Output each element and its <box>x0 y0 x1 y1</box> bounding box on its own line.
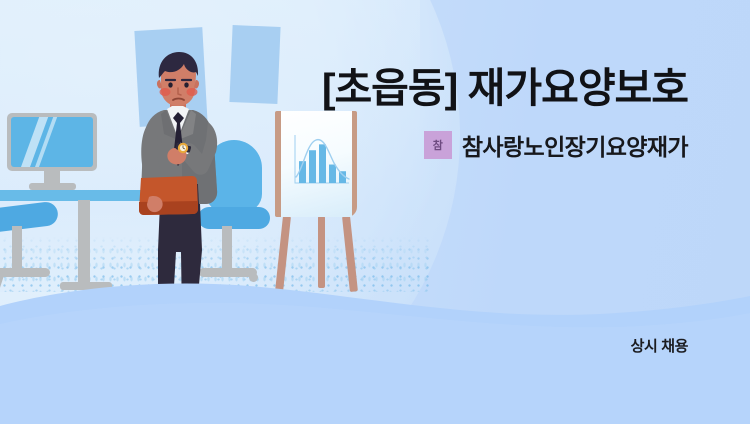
desktop-monitor <box>7 113 97 171</box>
banner-text-block: [초읍동] 재가요양보호 참 참사랑노인장기요양재가 <box>168 64 688 162</box>
company-name[interactable]: 참사랑노인장기요양재가 <box>462 128 688 162</box>
office-chair-left-base <box>0 268 50 277</box>
monitor-stand-foot <box>29 183 76 190</box>
company-row: 참 참사랑노인장기요양재가 <box>168 128 688 162</box>
page-title: [초읍동] 재가요양보호 <box>168 64 688 112</box>
monitor-screen <box>11 117 93 167</box>
company-badge: 참 <box>424 131 452 159</box>
office-desk-leg <box>78 200 90 286</box>
hiring-status-note: 상시 채용 <box>631 335 688 356</box>
chart-bar <box>329 165 336 183</box>
office-chair-left-post <box>12 226 22 272</box>
job-posting-banner: [초읍동] 재가요양보호 참 참사랑노인장기요양재가 상시 채용 <box>0 0 750 424</box>
easel-leg-center <box>318 216 325 288</box>
